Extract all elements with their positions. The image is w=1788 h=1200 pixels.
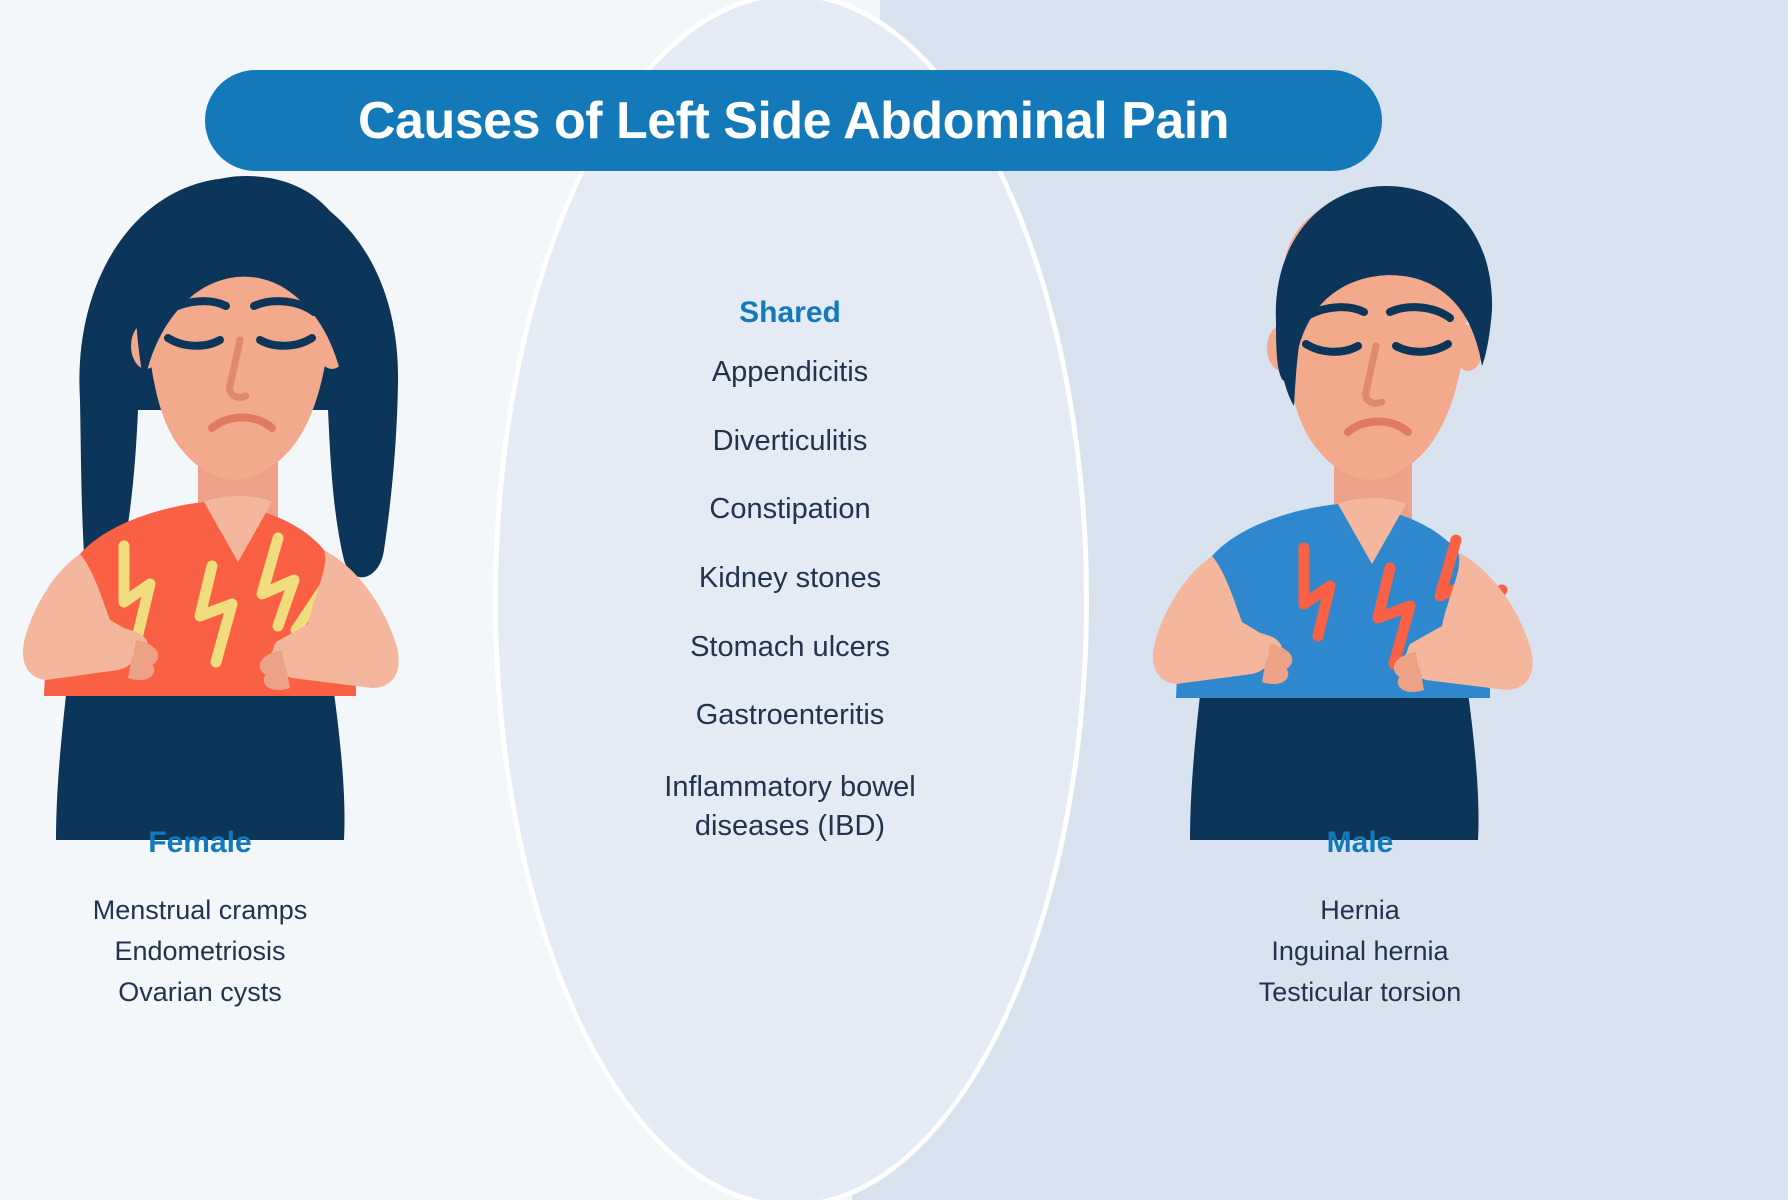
shared-item-constipation: Constipation bbox=[560, 493, 1020, 527]
shared-item-kidney-stones: Kidney stones bbox=[560, 562, 1020, 596]
male-heading: Male bbox=[1200, 826, 1520, 860]
shared-item-ibd-line2: diseases (IBD) bbox=[560, 807, 1020, 846]
infographic-canvas: Causes of Left Side Abdominal Pain Share… bbox=[0, 0, 1788, 1200]
male-item-testicular-torsion: Testicular torsion bbox=[1180, 972, 1540, 1013]
female-item-ovarian-cysts: Ovarian cysts bbox=[20, 972, 380, 1013]
shared-item-gastroenteritis: Gastroenteritis bbox=[560, 699, 1020, 733]
shared-heading: Shared bbox=[560, 296, 1020, 330]
page-title: Causes of Left Side Abdominal Pain bbox=[358, 91, 1229, 151]
shared-item-ibd: Inflammatory bowel diseases (IBD) bbox=[560, 768, 1020, 846]
title-banner: Causes of Left Side Abdominal Pain bbox=[205, 70, 1382, 171]
female-cause-list: Menstrual cramps Endometriosis Ovarian c… bbox=[20, 890, 380, 1013]
male-item-hernia: Hernia bbox=[1180, 890, 1540, 931]
female-figure bbox=[0, 150, 520, 840]
female-item-endometriosis: Endometriosis bbox=[20, 931, 380, 972]
shared-item-stomach-ulcers: Stomach ulcers bbox=[560, 631, 1020, 665]
shared-item-appendicitis: Appendicitis bbox=[560, 356, 1020, 390]
shared-item-diverticulitis: Diverticulitis bbox=[560, 425, 1020, 459]
male-figure bbox=[1090, 150, 1650, 840]
male-cause-list: Hernia Inguinal hernia Testicular torsio… bbox=[1180, 890, 1540, 1013]
female-item-menstrual-cramps: Menstrual cramps bbox=[20, 890, 380, 931]
shared-column: Shared Appendicitis Diverticulitis Const… bbox=[560, 296, 1020, 846]
female-heading: Female bbox=[40, 826, 360, 860]
shared-item-ibd-line1: Inflammatory bowel bbox=[560, 768, 1020, 807]
male-item-inguinal-hernia: Inguinal hernia bbox=[1180, 931, 1540, 972]
